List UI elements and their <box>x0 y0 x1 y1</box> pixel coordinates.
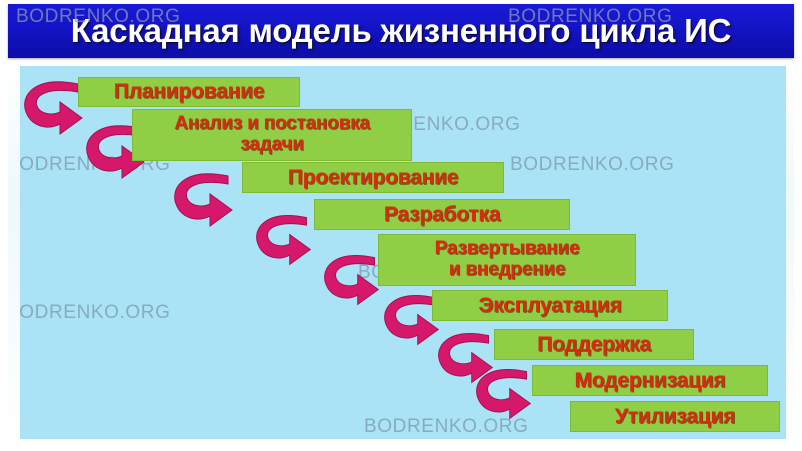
stage-box-deployment[interactable]: Развертывание и внедрение <box>378 234 636 286</box>
stage-label-deployment: Развертывание и внедрение <box>435 239 580 280</box>
watermark-lower-left: BODRENKO.ORG <box>20 302 171 324</box>
stage-box-disposal[interactable]: Утилизация <box>570 401 780 432</box>
stage-label-design: Проектирование <box>288 167 459 189</box>
arrow-5-deployment-to-operation <box>320 252 386 312</box>
stage-box-analysis[interactable]: Анализ и постановка задачи <box>132 109 412 161</box>
stage-label-support: Поддержка <box>537 334 651 356</box>
diagram-panel: BODRENKO.ORG BODRENKO.ORG BODRENKO.ORG B… <box>20 66 786 439</box>
page-title: Каскадная модель жизненного цикла ИС <box>8 12 794 50</box>
stage-label-planning: Планирование <box>114 81 265 103</box>
arrow-8-modernization-to-disposal <box>472 366 538 426</box>
stage-box-design[interactable]: Проектирование <box>242 162 504 193</box>
stage-box-planning[interactable]: Планирование <box>78 77 300 107</box>
stage-label-operation: Эксплуатация <box>478 295 621 317</box>
arrow-3-design-to-development <box>170 170 240 234</box>
stage-label-modernization: Модернизация <box>575 370 726 392</box>
slide-canvas: Каскадная модель жизненного цикла ИС BOD… <box>0 0 802 451</box>
stage-box-support[interactable]: Поддержка <box>494 329 694 360</box>
stage-label-development: Разработка <box>384 204 500 226</box>
stage-label-disposal: Утилизация <box>615 406 735 428</box>
stage-box-development[interactable]: Разработка <box>314 199 570 230</box>
stage-box-operation[interactable]: Эксплуатация <box>432 290 668 321</box>
stage-box-modernization[interactable]: Модернизация <box>532 365 768 396</box>
watermark-middle-right: BODRENKO.ORG <box>510 154 675 176</box>
arrow-4-development-to-deployment <box>252 212 318 272</box>
title-banner: Каскадная модель жизненного цикла ИС <box>8 4 794 58</box>
stage-label-analysis: Анализ и постановка задачи <box>174 114 370 155</box>
